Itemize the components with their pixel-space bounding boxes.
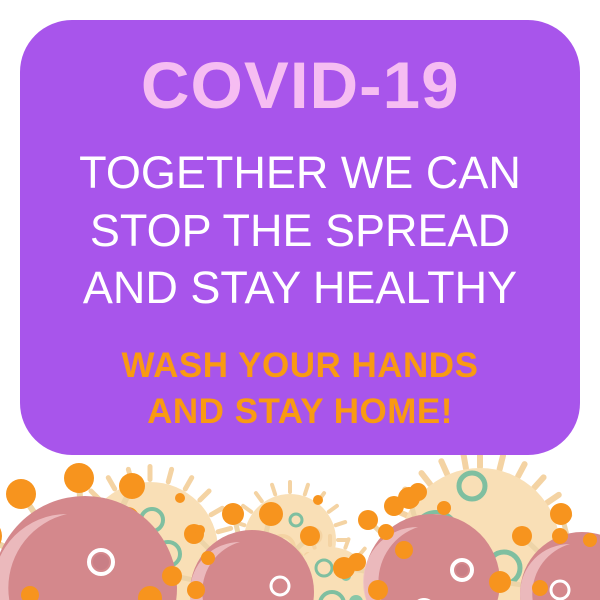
covid-awareness-poster: COVID-19 TOGETHER WE CAN STOP THE SPREAD… [0, 0, 600, 600]
headline-line-3: AND STAY HEALTHY [79, 259, 521, 317]
headline-text: TOGETHER WE CAN STOP THE SPREAD AND STAY… [79, 144, 521, 317]
coronavirus-illustration [0, 440, 600, 600]
page-title: COVID-19 [141, 52, 460, 118]
headline-line-1: TOGETHER WE CAN [79, 144, 521, 202]
headline-line-2: STOP THE SPREAD [79, 202, 521, 260]
cta-line-1: WASH YOUR HANDS [122, 343, 479, 390]
coronavirus-svg [0, 440, 600, 600]
call-to-action-text: WASH YOUR HANDS AND STAY HOME! [122, 343, 479, 436]
cta-line-2: AND STAY HOME! [122, 389, 479, 436]
poster-card: COVID-19 TOGETHER WE CAN STOP THE SPREAD… [20, 20, 580, 455]
